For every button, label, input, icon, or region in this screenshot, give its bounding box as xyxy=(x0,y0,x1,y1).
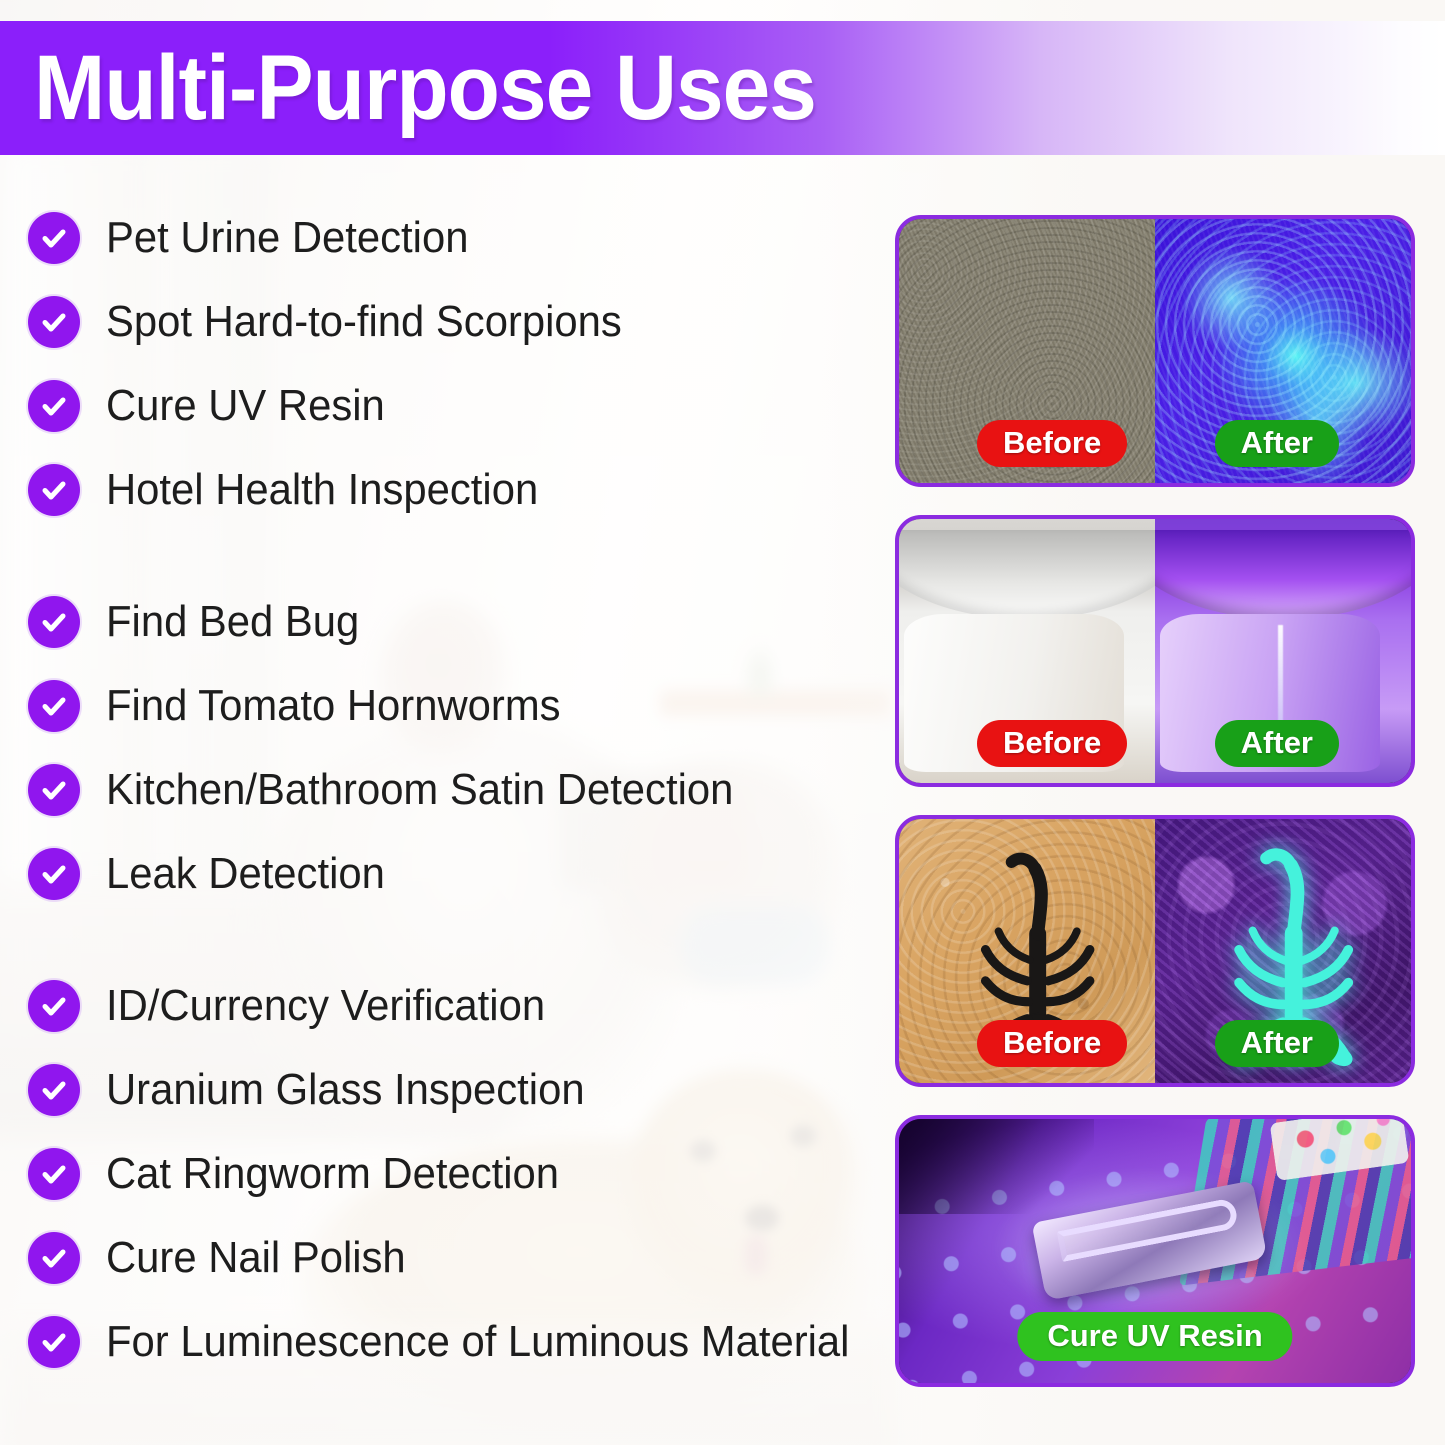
list-item-label: Uranium Glass Inspection xyxy=(106,1068,585,1112)
check-icon xyxy=(28,1064,80,1116)
check-icon xyxy=(28,1232,80,1284)
panel-carpet-stain: Before After xyxy=(895,215,1415,487)
demo-photo-panels: Before After Before After xyxy=(895,215,1415,1415)
feature-group-1: Pet Urine Detection Spot Hard-to-find Sc… xyxy=(28,196,888,532)
list-item-label: Cure Nail Polish xyxy=(106,1236,406,1280)
status-badge-after: After xyxy=(1215,420,1339,467)
list-item: Find Tomato Hornworms xyxy=(28,664,888,748)
list-item-label: Kitchen/Bathroom Satin Detection xyxy=(106,768,733,812)
list-item-label: Pet Urine Detection xyxy=(106,216,468,260)
list-item-label: Cure UV Resin xyxy=(106,384,385,428)
list-item-label: Find Tomato Hornworms xyxy=(106,684,561,728)
list-item: For Luminescence of Luminous Material xyxy=(28,1300,888,1384)
list-item-label: Spot Hard-to-find Scorpions xyxy=(106,300,622,344)
status-badge-before: Before xyxy=(977,720,1127,767)
status-badge-after: After xyxy=(1215,1020,1339,1067)
list-item-label: Leak Detection xyxy=(106,852,385,896)
status-badge-after: After xyxy=(1215,720,1339,767)
check-icon xyxy=(28,212,80,264)
check-icon xyxy=(28,380,80,432)
infographic-page: Multi-Purpose Uses Pet Urine Detection S… xyxy=(0,0,1445,1445)
status-badge-cure-uv-resin: Cure UV Resin xyxy=(1017,1312,1292,1361)
status-badge-before: Before xyxy=(977,1020,1127,1067)
list-item-label: Find Bed Bug xyxy=(106,600,359,644)
feature-group-3: ID/Currency Verification Uranium Glass I… xyxy=(28,964,888,1384)
list-item: Find Bed Bug xyxy=(28,580,888,664)
list-item: Pet Urine Detection xyxy=(28,196,888,280)
panel-scorpion: Before After xyxy=(895,815,1415,1087)
list-item: Uranium Glass Inspection xyxy=(28,1048,888,1132)
header-banner: Multi-Purpose Uses xyxy=(0,21,1445,155)
check-icon xyxy=(28,1148,80,1200)
list-item-label: ID/Currency Verification xyxy=(106,984,545,1028)
check-icon xyxy=(28,464,80,516)
list-item: ID/Currency Verification xyxy=(28,964,888,1048)
feature-list: Pet Urine Detection Spot Hard-to-find Sc… xyxy=(28,196,888,1384)
check-icon xyxy=(28,296,80,348)
check-icon xyxy=(28,764,80,816)
panel-toilet-bowl: Before After xyxy=(895,515,1415,787)
list-item-label: For Luminescence of Luminous Material xyxy=(106,1320,849,1364)
page-title: Multi-Purpose Uses xyxy=(34,44,816,132)
list-item: Cat Ringworm Detection xyxy=(28,1132,888,1216)
check-icon xyxy=(28,596,80,648)
check-icon xyxy=(28,980,80,1032)
list-item: Kitchen/Bathroom Satin Detection xyxy=(28,748,888,832)
list-item-label: Cat Ringworm Detection xyxy=(106,1152,559,1196)
check-icon xyxy=(28,680,80,732)
status-badge-before: Before xyxy=(977,420,1127,467)
check-icon xyxy=(28,848,80,900)
list-item: Spot Hard-to-find Scorpions xyxy=(28,280,888,364)
list-item: Cure UV Resin xyxy=(28,364,888,448)
list-item-label: Hotel Health Inspection xyxy=(106,468,538,512)
list-item: Hotel Health Inspection xyxy=(28,448,888,532)
list-item: Cure Nail Polish xyxy=(28,1216,888,1300)
list-item: Leak Detection xyxy=(28,832,888,916)
feature-group-2: Find Bed Bug Find Tomato Hornworms Kitch… xyxy=(28,580,888,916)
panel-cure-uv-resin: Cure UV Resin xyxy=(895,1115,1415,1387)
check-icon xyxy=(28,1316,80,1368)
